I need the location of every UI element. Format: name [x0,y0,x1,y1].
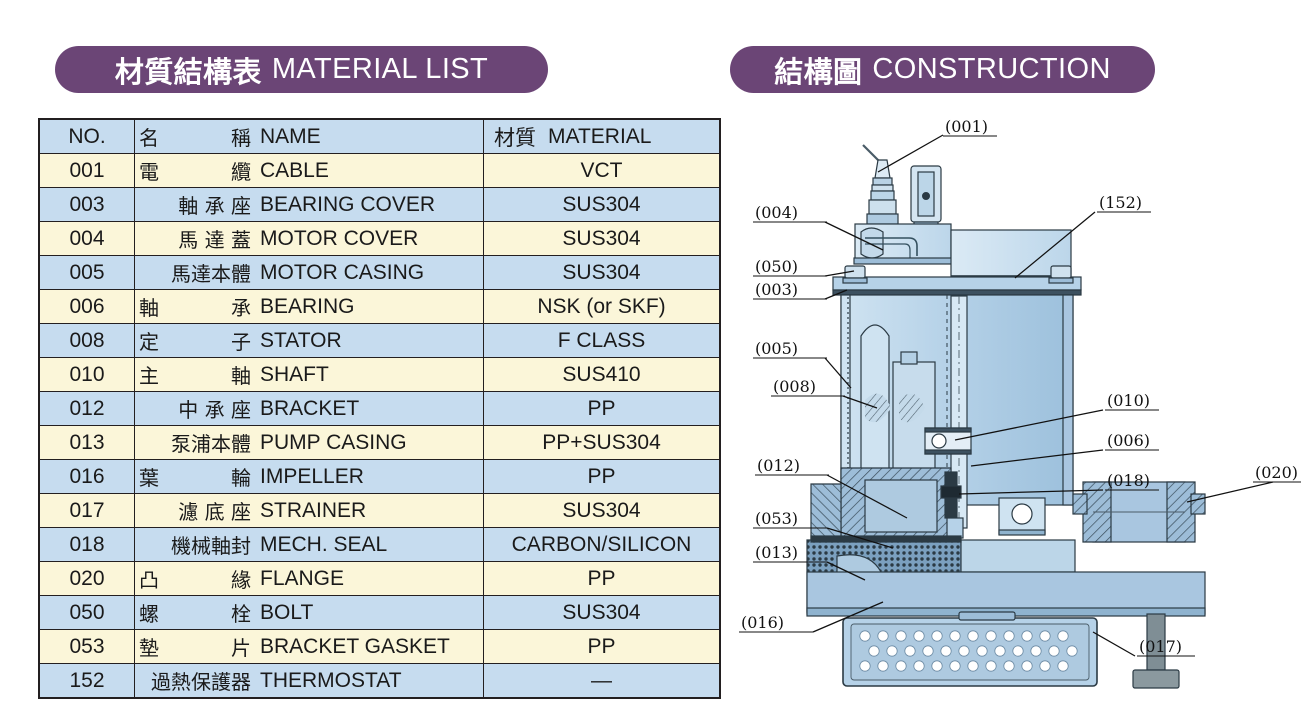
table-row: 017濾 底 座STRAINERSUS304 [39,494,720,528]
header-name-en: NAME [260,125,321,149]
part-flange [1073,482,1205,542]
table-row: 050螺 栓BOLTSUS304 [39,596,720,630]
cell-name-en: BOLT [260,601,313,625]
cell-name: 機械軸封MECH. SEAL [135,528,484,562]
cell-name-cn: 電 纜 [139,156,251,185]
cell-name-cn: 濾 底 座 [139,496,251,525]
svg-text:(001): (001) [945,117,988,136]
cell-name-en: MOTOR CASING [260,261,424,285]
callout-010: (010) [1105,391,1159,410]
part-thermostat-stem [911,166,941,230]
svg-text:(006): (006) [1107,431,1150,450]
construction-title-cn: 結構圖 [774,49,862,91]
svg-text:(018): (018) [1107,471,1150,490]
cell-name-cn: 軸 承 座 [139,190,251,219]
table-row: 013泵浦本體PUMP CASINGPP+SUS304 [39,426,720,460]
table-row: 152過熱保護器THERMOSTAT— [39,664,720,699]
cell-no: 003 [39,188,135,222]
table-row: 018機械軸封MECH. SEALCARBON/SILICON [39,528,720,562]
header-material-cn: 材質 [494,122,536,152]
cell-name-cn: 中 承 座 [139,394,251,423]
cell-no: 020 [39,562,135,596]
cell-no: 053 [39,630,135,664]
cell-name-en: MECH. SEAL [260,533,387,557]
cell-no: 004 [39,222,135,256]
table-row: 012中 承 座BRACKETPP [39,392,720,426]
cell-material: SUS304 [484,494,721,528]
cell-name: 凸 緣FLANGE [135,562,484,596]
cell-name-cn: 螺 栓 [139,598,251,627]
table-row: 006軸 承BEARINGNSK (or SKF) [39,290,720,324]
svg-text:(004): (004) [755,203,798,222]
cell-material: SUS304 [484,256,721,290]
cell-material: PP+SUS304 [484,426,721,460]
cell-name: 過熱保護器THERMOSTAT [135,664,484,699]
cell-name-cn: 機械軸封 [139,530,251,559]
cell-name-cn: 過熱保護器 [139,666,251,695]
cell-no: 018 [39,528,135,562]
cell-name: 泵浦本體PUMP CASING [135,426,484,460]
cell-material: PP [484,460,721,494]
header-no: NO. [39,119,135,154]
cell-name: 墊 片BRACKET GASKET [135,630,484,664]
part-cable [863,145,898,224]
svg-text:(053): (053) [755,509,798,528]
cell-name: 軸 承BEARING [135,290,484,324]
callout-020: (020) [1253,463,1301,482]
cell-material: SUS304 [484,596,721,630]
callout-004: (004) [753,203,827,222]
part-bolt-right [1051,266,1071,278]
cell-name-en: FLANGE [260,567,344,591]
material-list-title-en: MATERIAL LIST [272,53,488,86]
svg-text:(050): (050) [755,257,798,276]
cell-name-en: BEARING COVER [260,193,435,217]
header-material-en: MATERIAL [548,125,651,149]
cell-name: 馬達本體MOTOR CASING [135,256,484,290]
svg-text:(010): (010) [1107,391,1150,410]
table-row: 004馬 達 蓋MOTOR COVERSUS304 [39,222,720,256]
cell-material: VCT [484,154,721,188]
cell-name-en: MOTOR COVER [260,227,418,251]
cell-name-cn: 馬達本體 [139,258,251,287]
table-row: 008定 子STATORF CLASS [39,324,720,358]
cell-no: 016 [39,460,135,494]
svg-text:(008): (008) [773,377,816,396]
table-header-row: NO. 名 稱 NAME 材質 MATERIAL [39,119,720,154]
svg-text:(003): (003) [755,280,798,299]
cell-material: PP [484,630,721,664]
cell-name-en: CABLE [260,159,329,183]
cell-name-cn: 泵浦本體 [139,428,251,457]
construction-badge: 結構圖 CONSTRUCTION [730,46,1155,93]
table-row: 010主 軸SHAFTSUS410 [39,358,720,392]
cell-material: PP [484,392,721,426]
cell-material: NSK (or SKF) [484,290,721,324]
construction-title-en: CONSTRUCTION [872,53,1110,86]
table-row: 003軸 承 座BEARING COVERSUS304 [39,188,720,222]
cell-material: F CLASS [484,324,721,358]
table-row: 020凸 緣FLANGEPP [39,562,720,596]
cell-name: 濾 底 座STRAINER [135,494,484,528]
cell-material: — [484,664,721,699]
svg-text:(020): (020) [1255,463,1298,482]
cell-no: 017 [39,494,135,528]
callout-050: (050) [753,257,827,276]
svg-text:(013): (013) [755,543,798,562]
cell-name: 定 子STATOR [135,324,484,358]
cell-no: 012 [39,392,135,426]
table-row: 001電 纜CABLEVCT [39,154,720,188]
callout-008: (008) [771,377,845,396]
cell-name-cn: 定 子 [139,326,251,355]
svg-text:(005): (005) [755,339,798,358]
cell-name-cn: 軸 承 [139,292,251,321]
cell-name-en: IMPELLER [260,465,364,489]
table-row: 053墊 片BRACKET GASKETPP [39,630,720,664]
material-list-table: NO. 名 稱 NAME 材質 MATERIAL 001電 纜CABLEVCT0… [38,118,721,699]
cell-no: 013 [39,426,135,460]
cell-material: SUS304 [484,222,721,256]
cell-no: 010 [39,358,135,392]
svg-text:(016): (016) [741,613,784,632]
construction-drawing: (001) (152) (004) (050) (003) (005) (008… [715,100,1305,700]
cell-name: 主 軸SHAFT [135,358,484,392]
cell-name-cn: 墊 片 [139,632,251,661]
callout-012: (012) [755,456,829,475]
header-name: 名 稱 NAME [135,119,484,154]
callout-001: (001) [943,117,997,136]
cell-no: 006 [39,290,135,324]
callout-005: (005) [753,339,827,358]
cell-name-en: THERMOSTAT [260,669,402,693]
callout-016: (016) [739,613,813,632]
part-bearing-lower [999,498,1045,535]
part-motor-cover [854,224,953,264]
table-row: 005馬達本體MOTOR CASINGSUS304 [39,256,720,290]
header-name-cn: 名 稱 [139,122,251,151]
cell-name-en: SHAFT [260,363,329,387]
cell-no: 152 [39,664,135,699]
cell-no: 050 [39,596,135,630]
cell-name-cn: 馬 達 蓋 [139,224,251,253]
cell-material: SUS410 [484,358,721,392]
cell-no: 005 [39,256,135,290]
cell-name-cn: 葉 輪 [139,462,251,491]
callout-017: (017) [1137,637,1195,656]
cell-no: 008 [39,324,135,358]
callout-006: (006) [1105,431,1159,450]
cell-name: 軸 承 座BEARING COVER [135,188,484,222]
svg-text:(152): (152) [1099,193,1142,212]
material-list-title-cn: 材質結構表 [115,49,262,91]
callout-152: (152) [1097,193,1151,212]
cell-name-en: BRACKET [260,397,359,421]
cell-material: SUS304 [484,188,721,222]
cell-name: 馬 達 蓋MOTOR COVER [135,222,484,256]
cell-material: CARBON/SILICON [484,528,721,562]
part-bearing-upper [925,428,971,454]
part-bracket-gasket [811,536,961,542]
cell-name: 螺 栓BOLT [135,596,484,630]
cell-name: 葉 輪IMPELLER [135,460,484,494]
callout-003: (003) [753,280,827,299]
part-pump-casing [807,540,1205,616]
table-row: 016葉 輪IMPELLERPP [39,460,720,494]
cell-no: 001 [39,154,135,188]
cell-name-en: STATOR [260,329,342,353]
material-list-badge: 材質結構表 MATERIAL LIST [55,46,548,93]
header-material: 材質 MATERIAL [484,119,721,154]
part-strainer [843,612,1097,686]
cell-name: 電 纜CABLE [135,154,484,188]
cell-name-en: BEARING [260,295,355,319]
cell-name: 中 承 座BRACKET [135,392,484,426]
cell-name-en: BRACKET GASKET [260,635,450,659]
cell-name-cn: 主 軸 [139,360,251,389]
cell-name-cn: 凸 緣 [139,564,251,593]
cell-name-en: STRAINER [260,499,366,523]
svg-text:(017): (017) [1139,637,1182,656]
cell-name-en: PUMP CASING [260,431,407,455]
cell-material: PP [484,562,721,596]
svg-text:(012): (012) [757,456,800,475]
